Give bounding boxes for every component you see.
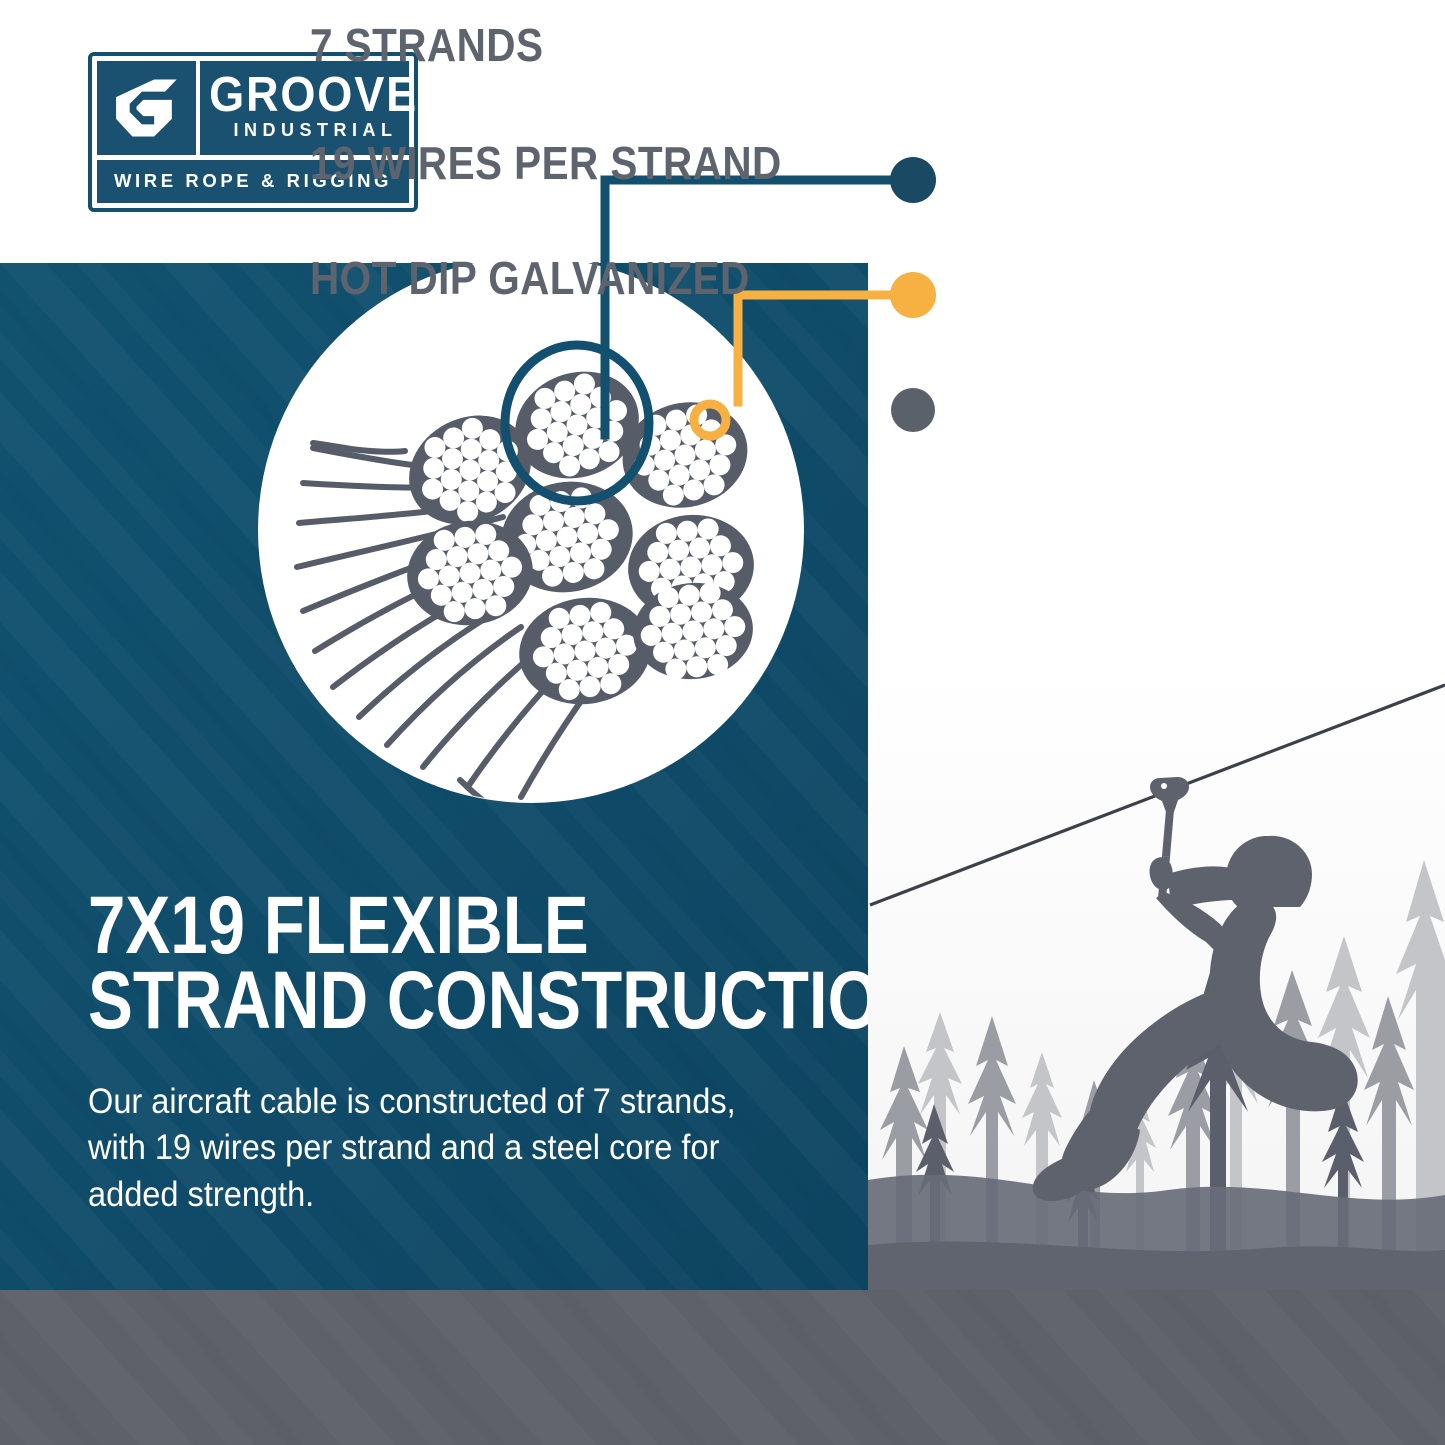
- callout-strands: 7 STRANDS: [310, 15, 575, 75]
- callout-galvanized: HOT DIP GALVANIZED: [310, 248, 810, 308]
- headline-line-1: 7X19 FLEXIBLE: [88, 888, 695, 963]
- callout-dot-wires: [890, 272, 936, 318]
- infographic-canvas: GROOVE INDUSTRIAL WIRE ROPE & RIGGING: [0, 0, 1445, 1445]
- body-description: Our aircraft cable is constructed of 7 s…: [88, 1079, 739, 1219]
- callout-dot-galvanized: [891, 388, 935, 432]
- text-block: 7X19 FLEXIBLE STRAND CONSTRUCTION Our ai…: [88, 888, 828, 1219]
- callout-wires: 19 WIRES PER STRAND: [310, 133, 846, 193]
- headline-line-2: STRAND CONSTRUCTION: [88, 963, 695, 1038]
- page-title: 7X19 FLEXIBLE STRAND CONSTRUCTION: [88, 888, 695, 1039]
- logo-brand-name: GROOVE: [209, 73, 418, 118]
- callout-label-wires: 19 WIRES PER STRAND: [310, 136, 782, 190]
- zipline-scene: [868, 660, 1445, 1290]
- groove-g-icon: [97, 61, 200, 155]
- connector-line-wires: [738, 295, 905, 402]
- g-monogram-shape: [112, 74, 180, 142]
- callout-label-strands: 7 STRANDS: [310, 18, 543, 72]
- footer-bar: [0, 1290, 1445, 1445]
- callout-label-galvanized: HOT DIP GALVANIZED: [310, 251, 750, 305]
- callout-dot-strands: [890, 157, 936, 203]
